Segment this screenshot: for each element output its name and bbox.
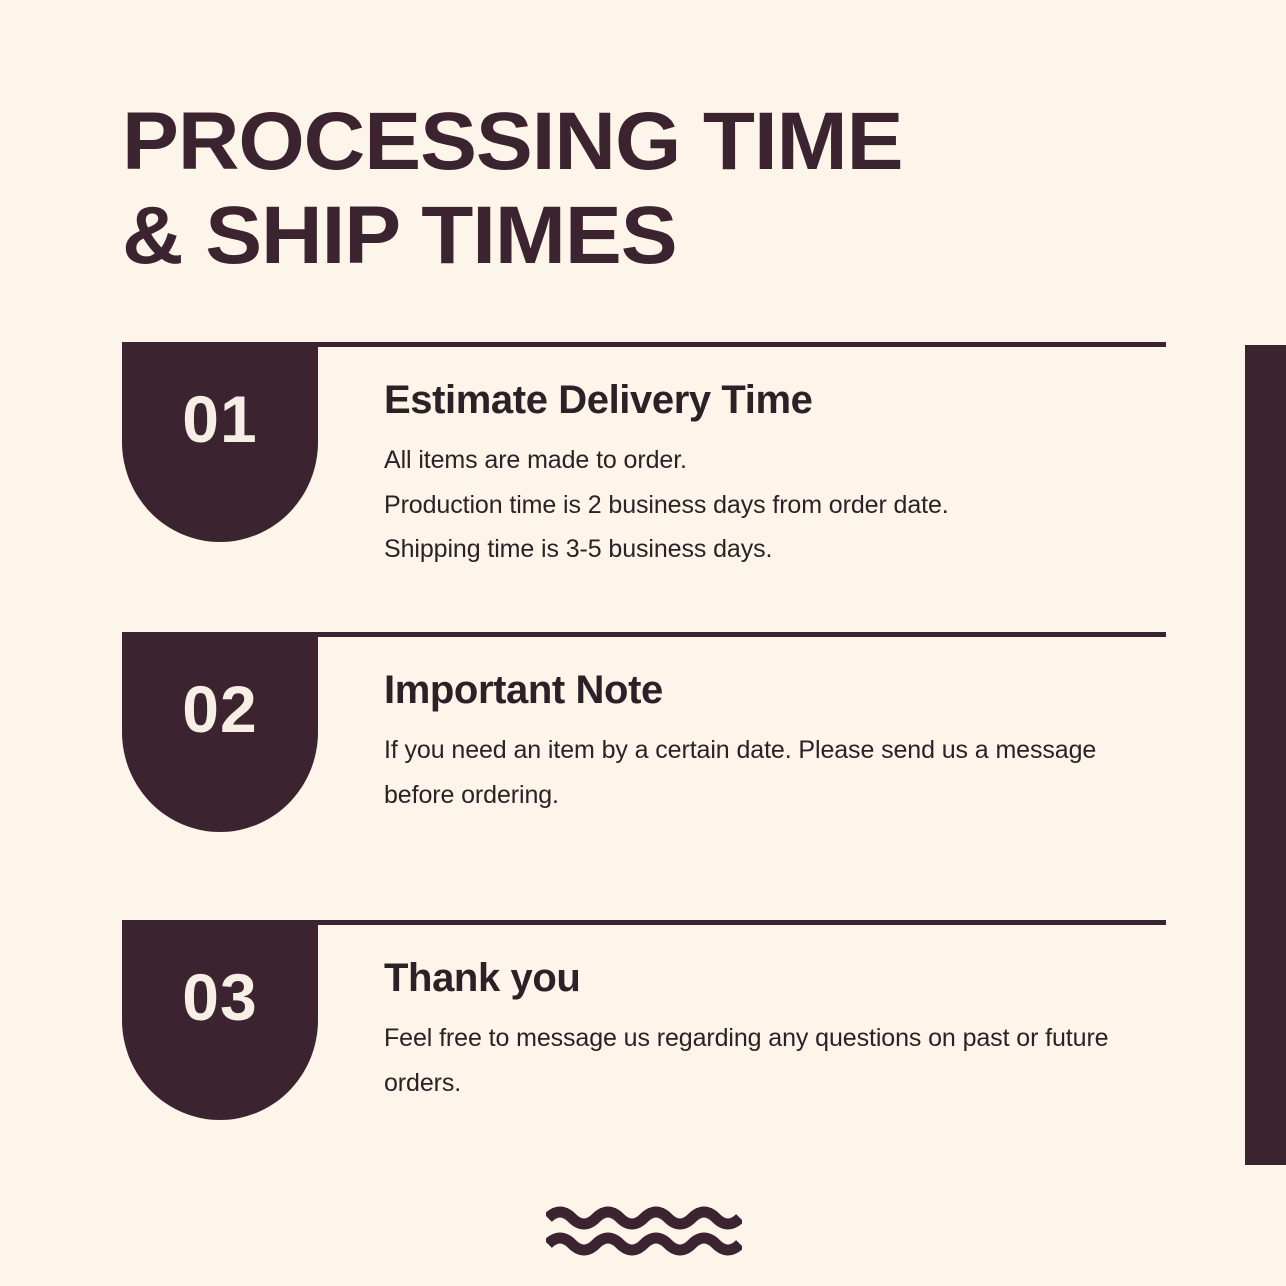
section-divider-rule	[318, 342, 1166, 347]
section-body-paragraph: If you need an item by a certain date. P…	[384, 728, 1124, 817]
section-number-label: 01	[122, 386, 318, 452]
section-body-paragraph: Feel free to message us regarding any qu…	[384, 1016, 1124, 1105]
section-number-label: 02	[122, 676, 318, 742]
section-number-badge: 03	[122, 920, 318, 1120]
section-body: Important Note If you need an item by a …	[384, 668, 1174, 817]
section-divider-rule	[318, 632, 1166, 637]
section-number-badge: 01	[122, 342, 318, 542]
section-body-line: Shipping time is 3-5 business days.	[384, 527, 1174, 572]
section-heading: Estimate Delivery Time	[384, 378, 1174, 422]
double-wave-divider-icon	[546, 1204, 742, 1264]
right-edge-accent-bar	[1245, 345, 1286, 1165]
section-divider-rule	[318, 920, 1166, 925]
section-heading: Important Note	[384, 668, 1174, 712]
section-number-label: 03	[122, 964, 318, 1030]
section-number-badge: 02	[122, 632, 318, 832]
section-body-line: Production time is 2 business days from …	[384, 483, 1174, 528]
section-body: Thank you Feel free to message us regard…	[384, 956, 1174, 1105]
section-body-line: All items are made to order.	[384, 438, 1174, 483]
section-heading: Thank you	[384, 956, 1174, 1000]
section-body: Estimate Delivery Time All items are mad…	[384, 378, 1174, 572]
page-title-line-2: & SHIP TIMES	[122, 196, 1214, 276]
poster-canvas: PROCESSING TIME & SHIP TIMES 01 Estimate…	[0, 0, 1286, 1286]
page-title: PROCESSING TIME & SHIP TIMES	[122, 102, 1172, 277]
wave-svg	[546, 1204, 742, 1264]
page-title-line-1: PROCESSING TIME	[122, 102, 1214, 182]
